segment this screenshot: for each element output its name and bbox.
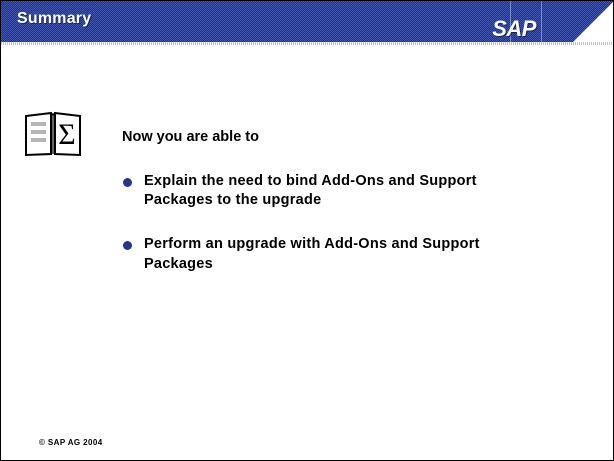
list-item: Explain the need to bind Add-Ons and Sup… bbox=[122, 172, 544, 210]
list-item: Perform an upgrade with Add-Ons and Supp… bbox=[122, 235, 544, 273]
svg-text:Σ: Σ bbox=[58, 118, 75, 151]
objectives-list: Explain the need to bind Add-Ons and Sup… bbox=[122, 172, 582, 274]
copyright-notice: © SAP AG 2004 bbox=[39, 438, 103, 447]
open-book-sigma-icon: Σ bbox=[24, 111, 82, 157]
lead-text: Now you are able to bbox=[122, 128, 582, 146]
list-item-label: Perform an upgrade with Add-Ons and Supp… bbox=[144, 236, 480, 271]
page-title: Summary bbox=[17, 10, 91, 28]
header-divider-right bbox=[541, 1, 542, 45]
slide-body: Now you are able to Explain the need to … bbox=[122, 128, 582, 274]
sap-logo: SAP bbox=[492, 18, 536, 40]
slide-summary: Summary SAP Σ Now you are able to Explai… bbox=[0, 0, 614, 461]
header-underline bbox=[1, 42, 614, 45]
slide-header: Summary SAP bbox=[1, 1, 614, 45]
list-item-label: Explain the need to bind Add-Ons and Sup… bbox=[144, 173, 477, 208]
bullet-dot-icon bbox=[123, 178, 132, 187]
bullet-dot-icon bbox=[123, 241, 132, 250]
